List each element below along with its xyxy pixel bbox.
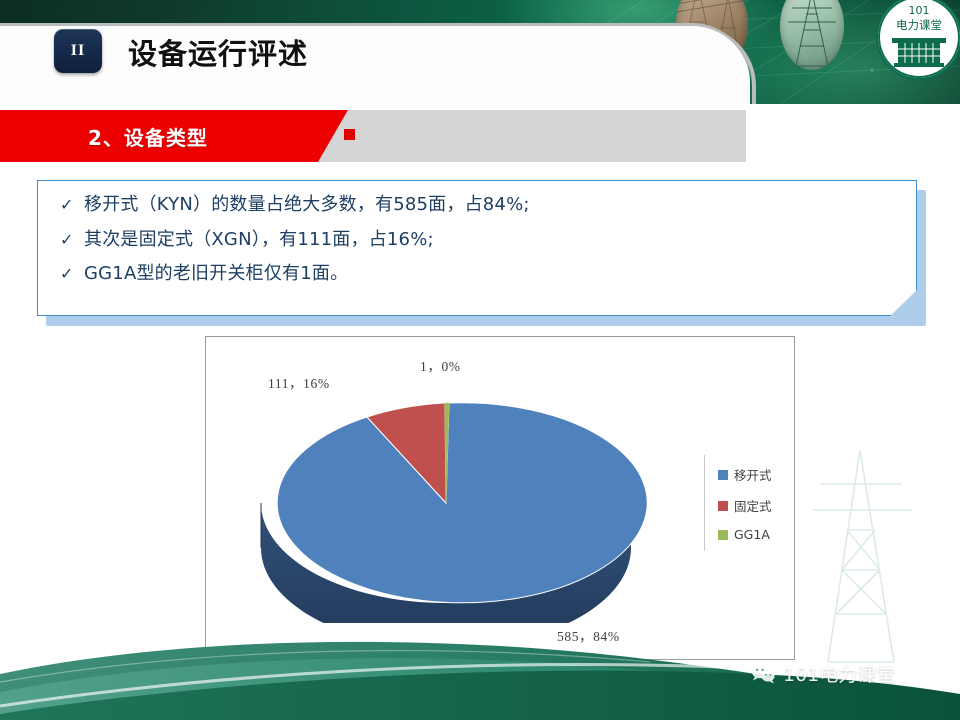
brand-logo: 101 电力课堂 bbox=[876, 0, 960, 80]
section-band-grey bbox=[312, 110, 746, 162]
pie-data-label: 111，16% bbox=[268, 372, 330, 392]
photo-inset-transmission-tower bbox=[780, 0, 844, 70]
legend-label: 移开式 bbox=[734, 465, 772, 484]
callout-box: ✓ 移开式（KYN）的数量占绝大多数，有585面，占84%; ✓ 其次是固定式（… bbox=[37, 180, 917, 316]
red-square-bullet-icon bbox=[344, 129, 355, 140]
callout-line-text: 其次是固定式（XGN），有111面，占16%; bbox=[84, 230, 434, 251]
legend-label: GG1A bbox=[734, 527, 770, 542]
section-band-red: 2、设备类型 bbox=[0, 110, 348, 162]
pie-slice-move bbox=[277, 403, 647, 603]
brand-logo-top-text: 101 bbox=[909, 4, 930, 17]
header-white-panel bbox=[0, 26, 750, 104]
legend-item: 固定式 bbox=[718, 496, 798, 515]
pie-chart-svg bbox=[246, 373, 666, 623]
check-mark-icon: ✓ bbox=[60, 196, 84, 214]
chapter-number-badge: II bbox=[54, 29, 102, 73]
legend-swatch-move bbox=[718, 470, 728, 480]
chapter-number-label: II bbox=[71, 42, 85, 60]
slide-root: 101 电力课堂 II 设备运行评述 2、设备类型 bbox=[0, 0, 960, 720]
callout-folded-corner bbox=[890, 290, 917, 316]
pie-data-label: 1，0% bbox=[420, 355, 461, 375]
page-title: 设备运行评述 bbox=[128, 30, 308, 74]
watermark-text: 101电力课堂 bbox=[783, 660, 895, 687]
chart-legend: 移开式 固定式 GG1A bbox=[718, 465, 798, 554]
check-mark-icon: ✓ bbox=[60, 265, 84, 283]
page-title-text: 设备运行评述 bbox=[128, 31, 308, 73]
legend-item: GG1A bbox=[718, 527, 798, 542]
callout-line-text: 移开式（KYN）的数量占绝大多数，有585面，占84%; bbox=[84, 195, 530, 216]
brand-logo-name: 电力课堂 bbox=[896, 18, 942, 32]
legend-divider bbox=[704, 455, 705, 551]
check-mark-icon: ✓ bbox=[60, 231, 84, 249]
section-label: 2、设备类型 bbox=[88, 110, 208, 162]
legend-label: 固定式 bbox=[734, 496, 772, 515]
pie-chart-3d bbox=[246, 373, 666, 623]
callout-line-text: GG1A型的老旧开关柜仅有1面。 bbox=[84, 264, 348, 285]
callout-line: ✓ 其次是固定式（XGN），有111面，占16%; bbox=[60, 230, 894, 251]
wechat-icon bbox=[750, 663, 776, 685]
legend-swatch-fixed bbox=[718, 501, 728, 511]
watermark: 101电力课堂 bbox=[750, 660, 895, 687]
callout-line: ✓ 移开式（KYN）的数量占绝大多数，有585面，占84%; bbox=[60, 195, 894, 216]
callout-line: ✓ GG1A型的老旧开关柜仅有1面。 bbox=[60, 264, 894, 285]
legend-swatch-gg1a bbox=[718, 530, 728, 540]
legend-item: 移开式 bbox=[718, 465, 798, 484]
